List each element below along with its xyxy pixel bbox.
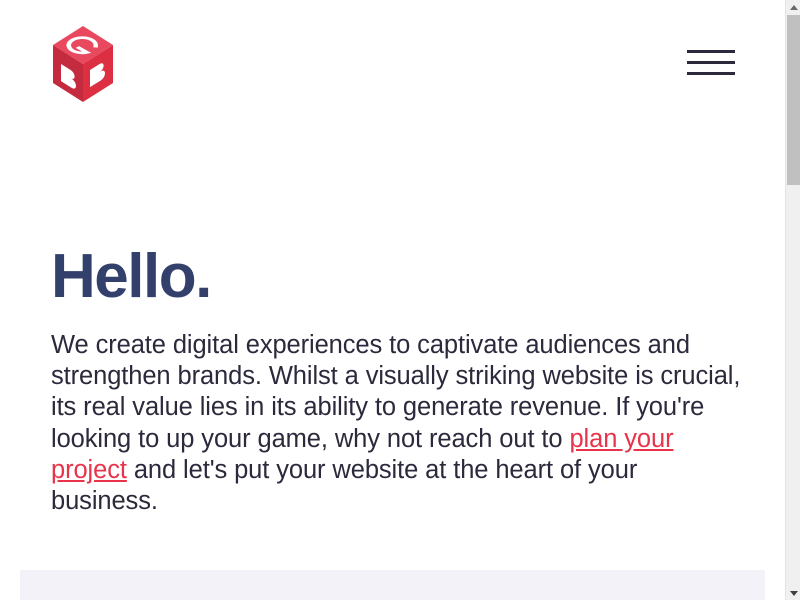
page-viewport: Hello. We create digital experiences to …: [0, 0, 785, 600]
hamburger-bar-1: [687, 50, 735, 53]
scroll-up-arrow-icon[interactable]: [786, 0, 800, 15]
gbb-cube-logo-icon[interactable]: [51, 24, 115, 104]
next-section-panel: [20, 570, 765, 600]
hamburger-bar-3: [687, 72, 735, 75]
page-title: Hello.: [51, 246, 741, 308]
scroll-up-arrow-glyph: [790, 5, 798, 10]
scrollbar-thumb[interactable]: [787, 15, 800, 185]
scroll-down-arrow-glyph: [790, 591, 798, 596]
hero-paragraph: We create digital experiences to captiva…: [51, 308, 741, 517]
scroll-down-arrow-icon[interactable]: [786, 585, 800, 600]
hero-section: Hello. We create digital experiences to …: [51, 246, 741, 517]
hamburger-menu-icon[interactable]: [687, 50, 735, 77]
page-root: Hello. We create digital experiences to …: [0, 0, 800, 600]
hero-text-after-link: and let's put your website at the heart …: [51, 456, 637, 515]
hamburger-bar-2: [687, 61, 735, 64]
site-header: [0, 0, 785, 128]
vertical-scrollbar[interactable]: [785, 0, 800, 600]
gbb-cube-svg: [51, 24, 115, 104]
